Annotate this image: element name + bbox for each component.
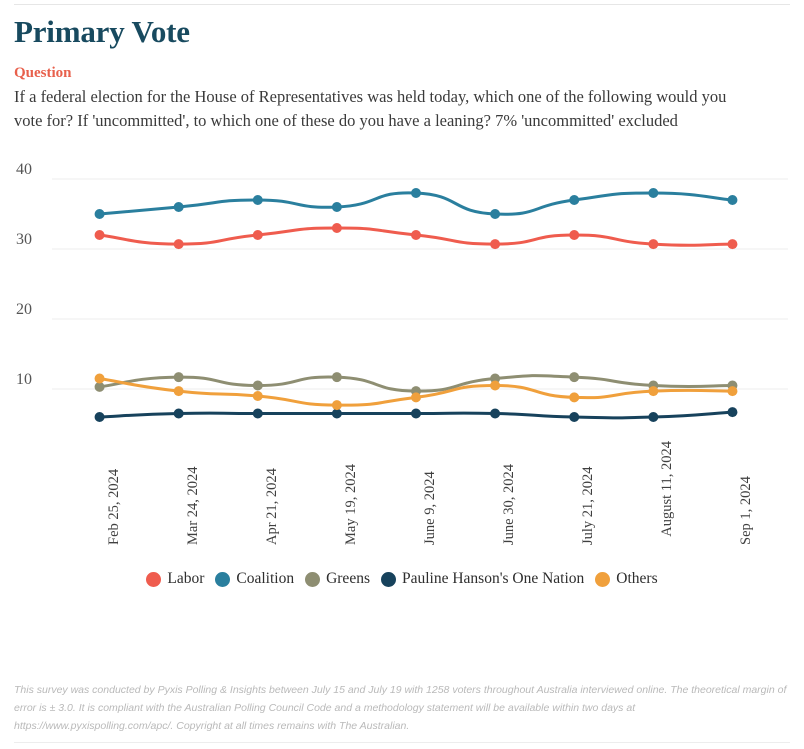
- data-point[interactable]: [95, 230, 105, 240]
- page-title: Primary Vote: [14, 0, 790, 50]
- x-axis-label: Apr 21, 2024: [264, 468, 282, 545]
- x-axis-label: July 21, 2024: [580, 467, 598, 546]
- legend-item[interactable]: Others: [595, 570, 657, 588]
- data-point[interactable]: [253, 381, 263, 391]
- data-point[interactable]: [332, 400, 342, 410]
- legend-label: Coalition: [236, 570, 294, 588]
- data-point[interactable]: [411, 230, 421, 240]
- data-point[interactable]: [411, 188, 421, 198]
- x-axis-label: Mar 24, 2024: [185, 467, 203, 546]
- data-point[interactable]: [332, 223, 342, 233]
- data-point[interactable]: [490, 381, 500, 391]
- top-divider: [14, 4, 790, 5]
- data-point[interactable]: [95, 209, 105, 219]
- x-axis-label: Feb 25, 2024: [106, 469, 124, 545]
- data-point[interactable]: [727, 407, 737, 417]
- y-axis-tick-label: 10: [16, 371, 32, 388]
- legend-color-dot: [595, 572, 610, 587]
- data-point[interactable]: [95, 412, 105, 422]
- data-point[interactable]: [727, 195, 737, 205]
- footer-divider: [14, 742, 790, 743]
- legend-item[interactable]: Coalition: [215, 570, 294, 588]
- data-point[interactable]: [569, 393, 579, 403]
- legend-item[interactable]: Greens: [305, 570, 370, 588]
- data-point[interactable]: [490, 209, 500, 219]
- data-point[interactable]: [95, 374, 105, 384]
- data-point[interactable]: [253, 195, 263, 205]
- data-point[interactable]: [727, 386, 737, 396]
- legend-item[interactable]: Labor: [146, 570, 204, 588]
- question-label: Question: [14, 64, 790, 82]
- x-axis-label: June 9, 2024: [422, 471, 440, 545]
- footer-note: This survey was conducted by Pyxis Polli…: [14, 681, 790, 735]
- x-axis-label: August 11, 2024: [659, 441, 677, 545]
- legend-color-dot: [305, 572, 320, 587]
- legend-label: Greens: [326, 570, 370, 588]
- legend-color-dot: [215, 572, 230, 587]
- legend-color-dot: [381, 572, 396, 587]
- y-axis-tick-label: 40: [16, 161, 32, 178]
- x-axis-label: Sep 1, 2024: [738, 476, 756, 545]
- chart-canvas: 10203040: [14, 151, 790, 441]
- data-point[interactable]: [253, 230, 263, 240]
- data-point[interactable]: [174, 409, 184, 419]
- series-coalition: [95, 188, 738, 219]
- x-axis-label: May 19, 2024: [343, 464, 361, 545]
- legend-label: Pauline Hanson's One Nation: [402, 570, 584, 588]
- data-point[interactable]: [648, 412, 658, 422]
- legend-color-dot: [146, 572, 161, 587]
- legend-label: Others: [616, 570, 657, 588]
- series-labor: [95, 223, 738, 249]
- data-point[interactable]: [648, 239, 658, 249]
- x-axis-labels: Feb 25, 2024Mar 24, 2024Apr 21, 2024May …: [14, 441, 790, 559]
- data-point[interactable]: [569, 195, 579, 205]
- series-group: [95, 188, 738, 422]
- legend-label: Labor: [167, 570, 204, 588]
- y-axis-tick-label: 20: [16, 301, 32, 318]
- grid-group: [52, 179, 788, 389]
- data-point[interactable]: [569, 230, 579, 240]
- data-point[interactable]: [490, 409, 500, 419]
- data-point[interactable]: [648, 188, 658, 198]
- x-axis-label: June 30, 2024: [501, 464, 519, 545]
- y-axis-tick-label: 30: [16, 231, 32, 248]
- data-point[interactable]: [332, 372, 342, 382]
- legend-item[interactable]: Pauline Hanson's One Nation: [381, 570, 584, 588]
- data-point[interactable]: [253, 409, 263, 419]
- data-point[interactable]: [727, 239, 737, 249]
- chart-legend: LaborCoalitionGreensPauline Hanson's One…: [14, 565, 790, 593]
- data-point[interactable]: [648, 386, 658, 396]
- data-point[interactable]: [569, 372, 579, 382]
- data-point[interactable]: [174, 372, 184, 382]
- question-text: If a federal election for the House of R…: [14, 85, 754, 134]
- data-point[interactable]: [174, 239, 184, 249]
- data-point[interactable]: [332, 202, 342, 212]
- data-point[interactable]: [490, 239, 500, 249]
- data-point[interactable]: [411, 393, 421, 403]
- data-point[interactable]: [411, 409, 421, 419]
- data-point[interactable]: [253, 391, 263, 401]
- primary-vote-chart-page: Primary Vote Question If a federal elect…: [0, 0, 804, 749]
- series-pauline-hanson-s-one-nation: [95, 407, 738, 422]
- data-point[interactable]: [174, 202, 184, 212]
- data-point[interactable]: [569, 412, 579, 422]
- data-point[interactable]: [174, 386, 184, 396]
- line-chart: 10203040: [14, 151, 790, 441]
- y-axis-ticks: 10203040: [16, 161, 32, 388]
